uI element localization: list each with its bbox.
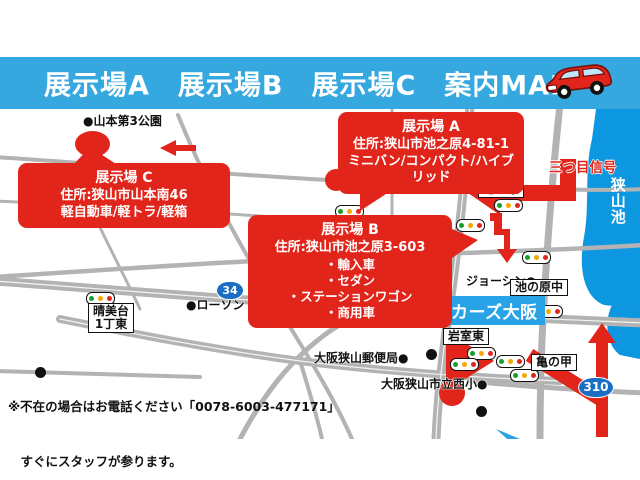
callout-b-tail: [452, 229, 478, 258]
red-car-icon: [542, 60, 616, 106]
callout-c-tail: [74, 147, 116, 164]
poi-dot-joshin: [476, 406, 487, 417]
callout-a-categories: ミニバン/コンパクト/ハイブリッド: [348, 154, 514, 187]
callout-b-title: 展示場 B: [258, 222, 442, 240]
poi-dot-b: [426, 349, 437, 360]
callout-a-tail: [360, 194, 386, 211]
signal-icon-iwamuro: [496, 355, 525, 368]
label-yamamoto-park: ●山本第3公園: [83, 112, 162, 129]
callout-c-address: 住所:狭山市山本南46: [28, 188, 220, 205]
callout-a-address: 住所:狭山市池之原4-81-1: [348, 137, 514, 154]
label-harumidai-line2: 1丁東: [93, 318, 129, 331]
callout-showroom-b[interactable]: 展示場 B 住所:狭山市池之原3-603 ・輸入車 ・セダン ・ステーションワゴ…: [248, 215, 452, 328]
footer-note: ※不在の場合はお電話ください「0078-6003-477171」 すぐにスタッフ…: [8, 362, 340, 480]
callout-showroom-a[interactable]: 展示場 A 住所:狭山市池之原4-81-1 ミニバン/コンパクト/ハイブリッド: [338, 112, 524, 194]
callout-c-title: 展示場 C: [28, 170, 220, 188]
header-banner: 展示場A 展示場B 展示場C 案内MAP: [0, 57, 640, 109]
signal-icon-ikenoharanaka: [522, 251, 551, 264]
label-west-school: 大阪狭山市立西小●: [381, 375, 487, 392]
callout-b-item-0: ・輸入車: [258, 257, 442, 273]
callout-b-item-1: ・セダン: [258, 273, 442, 289]
label-cars-osaka: カーズ大阪: [444, 296, 545, 325]
label-iwamurohigashi: 岩室東: [443, 328, 489, 345]
map-page: 展示場A 展示場B 展示場C 案内MAP: [0, 0, 640, 480]
signal-icon-ikenohara: [494, 199, 523, 212]
label-harumidai: 晴美台 1丁東: [88, 303, 134, 333]
label-sayama-pond: 狭山池: [609, 177, 625, 225]
callout-showroom-c[interactable]: 展示場 C 住所:狭山市山本南46 軽自動車/軽トラ/軽箱: [18, 163, 230, 228]
footer-note-line-1: すぐにスタッフが参ります。: [8, 453, 340, 471]
page-title: 展示場A 展示場B 展示場C 案内MAP: [44, 64, 571, 103]
callout-a-title: 展示場 A: [348, 119, 514, 137]
cars-osaka-pointer: [496, 429, 520, 439]
callout-c-categories: 軽自動車/軽トラ/軽箱: [28, 205, 220, 222]
label-third-signal: 三つ目信号: [549, 156, 617, 176]
signal-icon-kamenoko: [450, 358, 479, 371]
route-shield-310: 310: [578, 377, 614, 398]
callout-b-item-3: ・商用車: [258, 305, 442, 321]
callout-b-address: 住所:狭山市池之原3-603: [258, 240, 442, 257]
footer-note-line-0: ※不在の場合はお電話ください「0078-6003-477171」: [8, 398, 340, 416]
label-kamenoko: 亀の甲: [531, 354, 577, 371]
label-ikenoharanaka: 池の原中: [510, 279, 568, 296]
callout-b-item-2: ・ステーションワゴン: [258, 289, 442, 305]
route-shield-34: 34: [216, 281, 244, 300]
